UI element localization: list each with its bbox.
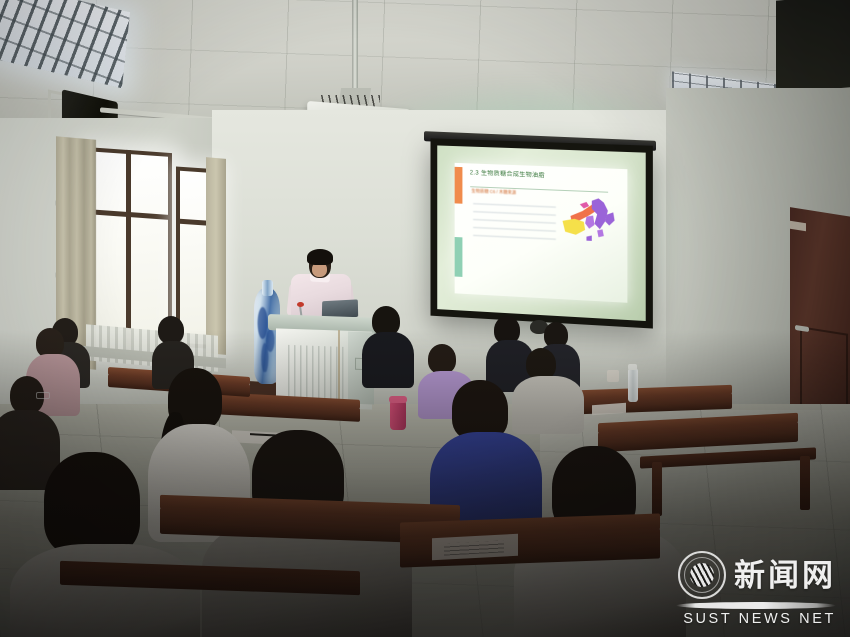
paper-cup	[607, 370, 619, 382]
head	[158, 316, 184, 344]
hair	[44, 452, 140, 556]
torso	[512, 376, 584, 434]
torso	[362, 332, 414, 388]
slide-accent-teal	[455, 237, 463, 277]
seal-core	[690, 563, 714, 587]
screen-surface: 2.3 生物质糖合成生物油脂 生物质糖 C6 / 木糖来源	[437, 145, 645, 321]
bench-leg	[652, 462, 662, 516]
projected-slide: 2.3 生物质糖合成生物油脂 生物质糖 C6 / 木糖来源	[455, 162, 628, 303]
vase-neck	[262, 280, 273, 296]
presenter-hair	[307, 249, 333, 265]
water-bottle	[628, 368, 638, 402]
watermark-row: 新闻网	[678, 551, 836, 599]
dark-ceiling-panel	[776, 0, 850, 93]
bottle-cap	[628, 364, 637, 370]
torso	[10, 544, 200, 637]
watermark-english-text: SUST NEWS NET	[683, 611, 836, 627]
news-site-watermark: 新闻网 SUST NEWS NET	[656, 549, 836, 627]
photo-scene: 2.3 生物质糖合成生物油脂 生物质糖 C6 / 木糖来源	[0, 0, 850, 637]
bench-leg	[800, 456, 810, 510]
curtain-right	[206, 157, 226, 355]
university-seal-icon	[678, 551, 726, 599]
vase-motif	[256, 302, 278, 372]
slide-body-text	[473, 201, 555, 239]
microphone-icon	[297, 302, 304, 307]
china-distribution-map-graphic	[549, 192, 619, 249]
slide-accent-orange	[455, 166, 463, 203]
thermos-lid	[389, 396, 407, 403]
head	[428, 344, 456, 374]
eyeglasses-icon	[36, 392, 50, 399]
pink-thermos	[390, 400, 406, 430]
hair	[452, 380, 508, 440]
screen-frame: 2.3 生物质糖合成生物油脂 生物质糖 C6 / 木糖来源	[430, 138, 652, 328]
projector-mount-pole	[352, 0, 358, 94]
watermark-chinese-text: 新闻网	[734, 560, 836, 591]
projection-screen: 2.3 生物质糖合成生物油脂 生物质糖 C6 / 木糖来源	[430, 138, 652, 328]
watermark-brush-stroke	[676, 602, 836, 609]
window-mullion	[126, 150, 131, 356]
